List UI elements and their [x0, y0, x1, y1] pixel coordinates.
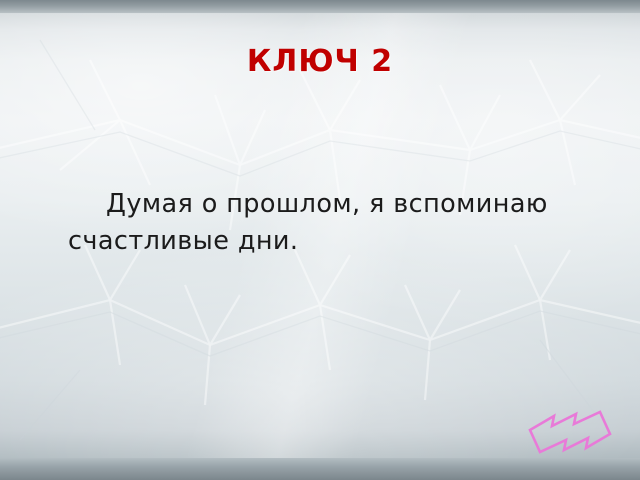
top-decorative-bar — [0, 0, 640, 13]
presentation-slide: КЛЮЧ 2 Думая о прошлом, я вспоминаю счас… — [0, 0, 640, 480]
slide-body-text: Думая о прошлом, я вспоминаю счастливые … — [68, 186, 580, 260]
bottom-decorative-bar — [0, 458, 640, 480]
slide-title: КЛЮЧ 2 — [0, 44, 640, 79]
body-text-content: Думая о прошлом, я вспоминаю счастливые … — [68, 189, 548, 256]
next-slide-arrow[interactable] — [524, 404, 616, 460]
